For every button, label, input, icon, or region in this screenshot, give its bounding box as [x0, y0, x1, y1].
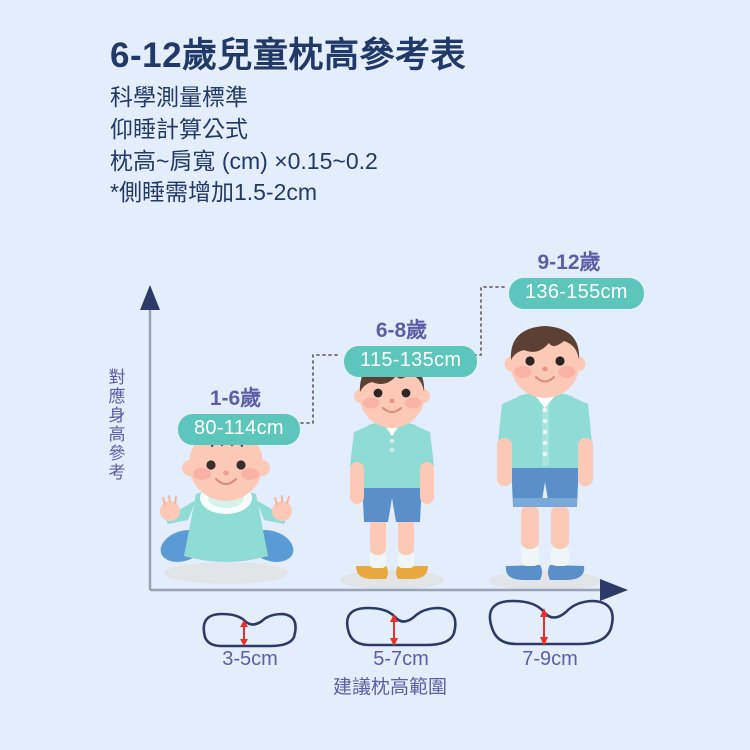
height-pill-9-12: 136-155cm: [509, 278, 644, 309]
pillow-label-medium: 5-7cm: [341, 648, 461, 671]
connector-2-to-3: [456, 287, 505, 355]
age-label-9-12: 9-12歲: [509, 246, 629, 276]
age-label-6-8: 6-8歲: [344, 314, 459, 344]
y-axis-char-3: 身: [104, 406, 130, 425]
shadow-boy-medium: [340, 570, 444, 590]
pillow-height-arrows: [240, 608, 548, 646]
pillow-small-outline: [204, 614, 296, 646]
connector-1-to-2: [289, 355, 337, 423]
x-axis-caption-text: 建議枕高範圍: [333, 677, 447, 698]
height-pill-1-6: 80-114cm: [178, 414, 300, 445]
header-block: 6-12歲兒童枕高參考表 科學測量標準 仰睡計算公式 枕高~肩寬 (cm) ×0…: [110, 36, 670, 209]
x-axis-caption: 建議枕高範圍: [0, 672, 750, 699]
pillow-item-medium[interactable]: 5-7cm: [341, 646, 461, 671]
y-axis-arrowhead: [140, 285, 160, 310]
pillow-shapes: [204, 601, 613, 646]
age-group-9-12[interactable]: 9-12歲 136-155cm: [509, 246, 629, 309]
subtitle-line-2: 仰睡計算公式: [110, 114, 670, 146]
pillow-item-small[interactable]: 3-5cm: [190, 646, 310, 671]
formula-line: 枕高~肩寬 (cm) ×0.15~0.2: [110, 146, 670, 178]
subtitle-line-1: 科學測量標準: [110, 82, 670, 114]
x-axis-arrowhead: [600, 579, 628, 601]
pillow-item-large[interactable]: 7-9cm: [490, 646, 610, 671]
page-title: 6-12歲兒童枕高參考表: [110, 36, 670, 76]
figure-baby-sitting: [156, 427, 297, 567]
side-sleep-note: *側睡需增加1.5-2cm: [110, 177, 670, 209]
age-group-6-8[interactable]: 6-8歲 115-135cm: [344, 314, 459, 377]
infographic-canvas: 6-12歲兒童枕高參考表 科學測量標準 仰睡計算公式 枕高~肩寬 (cm) ×0…: [0, 0, 750, 750]
pillow-large-outline: [490, 601, 613, 644]
figure-boy-medium: [350, 360, 434, 579]
shadow-boy-tall: [489, 571, 601, 591]
height-pill-6-8: 115-135cm: [344, 346, 477, 377]
age-group-1-6[interactable]: 1-6歲 80-114cm: [178, 382, 293, 445]
age-label-1-6: 1-6歲: [178, 382, 293, 412]
pillow-label-large: 7-9cm: [490, 648, 610, 671]
pillow-label-small: 3-5cm: [190, 648, 310, 671]
pillow-medium-outline: [347, 608, 455, 645]
y-axis-char-4: 高: [104, 425, 130, 444]
shadow-baby: [164, 562, 288, 584]
y-axis-char-2: 應: [104, 387, 130, 406]
y-axis-char-5: 參: [104, 444, 130, 463]
y-axis-char-6: 考: [104, 463, 130, 482]
y-axis-char-1: 對: [104, 368, 130, 387]
y-axis-label: 對 應 身 高 參 考: [104, 368, 130, 482]
figure-boy-tall: [497, 326, 593, 580]
